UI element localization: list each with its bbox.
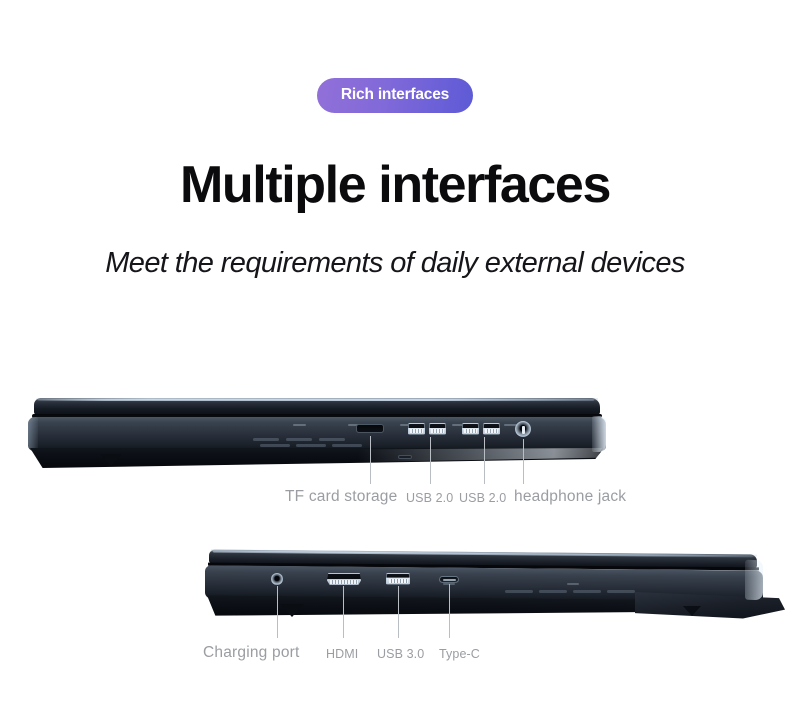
laptop-top-micro-slot [398,455,412,459]
leader-line-usb-3 [398,586,399,638]
laptop-bottom-right-edge [745,560,763,601]
page-title: Multiple interfaces [0,156,790,214]
laptop-bottom-image [205,552,785,624]
laptop-top-vent [286,438,312,441]
laptop-top-marking [293,424,306,426]
leader-line-tf-card [370,436,371,484]
leader-line-type-c [449,584,450,638]
rich-interfaces-badge: Rich interfaces [317,78,473,113]
label-type-c: Type-C [439,648,480,661]
laptop-bottom-vent [607,590,635,593]
tf-card-slot-icon [356,424,384,433]
laptop-top-vent [332,444,362,447]
laptop-top-right-edge [592,416,606,452]
laptop-bottom-vent [505,590,533,593]
laptop-top-base-highlight [36,398,598,400]
headphone-jack-icon [515,421,531,437]
usb-3-port-icon [386,573,410,585]
laptop-bottom-marking [567,583,579,585]
laptop-top-vent [296,444,326,447]
laptop-bottom-vent [573,590,601,593]
type-c-port-icon [439,576,459,583]
laptop-top-left-edge [28,417,38,451]
leader-line-usb-2 [484,437,485,484]
laptop-top-vent [319,438,345,441]
label-hdmi: HDMI [326,648,358,661]
laptop-top-vent [260,444,290,447]
laptop-bottom-vent [539,590,567,593]
usb-a-port-1b-icon [429,423,446,435]
label-usb-2-0-first: USB 2.0 [406,492,453,505]
laptop-top-vent [253,438,279,441]
hdmi-port-icon [327,573,361,585]
leader-line-hdmi [343,586,344,638]
page-subtitle: Meet the requirements of daily external … [0,246,790,281]
label-usb-3-0: USB 3.0 [377,648,424,661]
label-tf-card-storage: TF card storage [285,489,397,505]
badge-container: Rich interfaces [0,78,790,113]
label-usb-2-0-second: USB 2.0 [459,492,506,505]
label-charging-port: Charging port [203,645,300,661]
label-headphone-jack: headphone jack [514,489,626,505]
charging-port-icon [271,573,283,585]
marketing-page: Rich interfaces Multiple interfaces Meet… [0,0,790,706]
leader-line-charging-port [277,586,278,638]
leader-line-usb-1 [430,437,431,484]
leader-line-headphone [523,439,524,484]
usb-a-port-2-icon [462,423,479,435]
usb-a-port-1-icon [408,423,425,435]
usb-a-port-2b-icon [483,423,500,435]
